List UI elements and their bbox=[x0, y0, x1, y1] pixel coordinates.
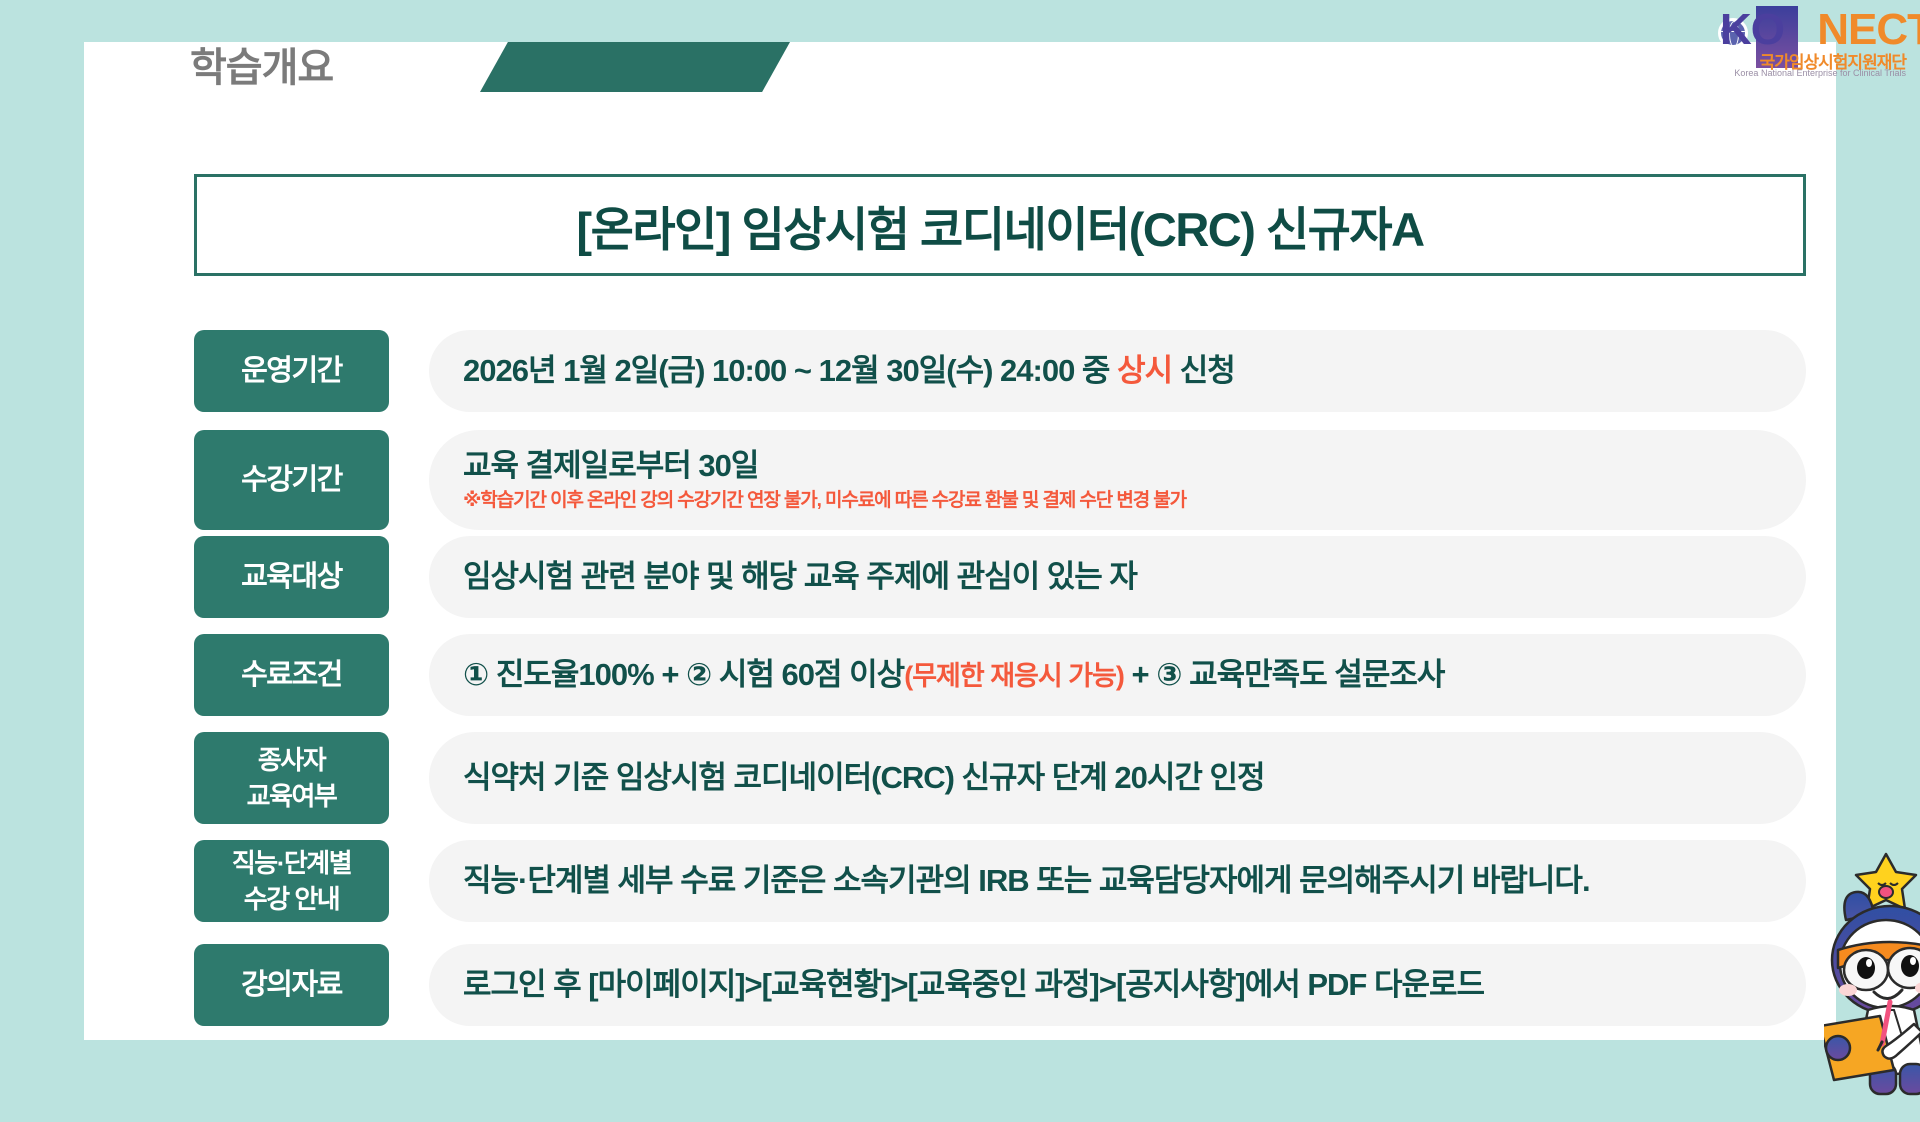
row-label: 운영기간 bbox=[194, 330, 389, 412]
row-content: 로그인 후 [마이페이지]>[교육현황]>[교육중인 과정]>[공지사항]에서 … bbox=[429, 944, 1806, 1026]
logo-ko-text: KO bbox=[1720, 5, 1784, 54]
content-card: 학습개요 [온라인] 임상시험 코디네이터(CRC) 신규자A 운영기간2026… bbox=[84, 42, 1836, 1040]
info-row: 강의자료로그인 후 [마이페이지]>[교육현황]>[교육중인 과정]>[공지사항… bbox=[194, 944, 1806, 1026]
row-label-line: 종사자 bbox=[258, 742, 325, 778]
content-text-highlight: 상시 bbox=[1117, 353, 1172, 388]
row-content-text: ① 진도율100% + ② 시험 60점 이상(무제한 재응시 가능) + ③ … bbox=[463, 655, 1772, 696]
row-label-line: 수료조건 bbox=[241, 657, 342, 693]
row-label: 수료조건 bbox=[194, 634, 389, 716]
course-title: [온라인] 임상시험 코디네이터(CRC) 신규자A bbox=[576, 191, 1423, 260]
row-label: 강의자료 bbox=[194, 944, 389, 1026]
info-row: 운영기간2026년 1월 2일(금) 10:00 ~ 12월 30일(수) 24… bbox=[194, 330, 1806, 412]
row-content-text: 교육 결제일로부터 30일 bbox=[463, 446, 1772, 486]
content-text-pre: 2026년 1월 2일(금) 10:00 ~ 12월 30일(수) 24:00 … bbox=[463, 353, 1117, 388]
logo-wordmark: KOONECT bbox=[1720, 8, 1920, 52]
row-content: 임상시험 관련 분야 및 해당 교육 주제에 관심이 있는 자 bbox=[429, 536, 1806, 618]
row-content: 직능·단계별 세부 수료 기준은 소속기관의 IRB 또는 교육담당자에게 문의… bbox=[429, 840, 1806, 922]
row-content: ① 진도율100% + ② 시험 60점 이상(무제한 재응시 가능) + ③ … bbox=[429, 634, 1806, 716]
row-content-note: ※학습기간 이후 온라인 강의 수강기간 연장 불가, 미수료에 따른 수강료 … bbox=[463, 488, 1772, 514]
content-text-pre: 로그인 후 [마이페이지]>[교육현황]>[교육중인 과정]>[공지사항]에서 … bbox=[463, 967, 1484, 1002]
row-content: 교육 결제일로부터 30일※학습기간 이후 온라인 강의 수강기간 연장 불가,… bbox=[429, 430, 1806, 530]
content-text-post: + ③ 교육만족도 설문조사 bbox=[1124, 657, 1444, 692]
info-row: 교육대상임상시험 관련 분야 및 해당 교육 주제에 관심이 있는 자 bbox=[194, 536, 1806, 618]
row-content: 식약처 기준 임상시험 코디네이터(CRC) 신규자 단계 20시간 인정 bbox=[429, 732, 1806, 824]
header-band: 학습개요 bbox=[84, 42, 1836, 94]
logo-nect-text: NECT bbox=[1817, 5, 1920, 54]
row-content-text: 로그인 후 [마이페이지]>[교육현황]>[교육중인 과정]>[공지사항]에서 … bbox=[463, 965, 1772, 1005]
content-text-pre: 교육 결제일로부터 30일 bbox=[463, 448, 758, 483]
content-text-pre: ① 진도율100% + ② 시험 60점 이상 bbox=[463, 657, 904, 692]
row-content-text: 2026년 1월 2일(금) 10:00 ~ 12월 30일(수) 24:00 … bbox=[463, 351, 1772, 391]
info-row: 수강기간교육 결제일로부터 30일※학습기간 이후 온라인 강의 수강기간 연장… bbox=[194, 430, 1806, 530]
content-text-pre: 직능·단계별 세부 수료 기준은 소속기관의 IRB 또는 교육담당자에게 문의… bbox=[463, 863, 1590, 898]
info-row: 직능·단계별수강 안내직능·단계별 세부 수료 기준은 소속기관의 IRB 또는… bbox=[194, 840, 1806, 922]
page-title: 학습개요 bbox=[190, 44, 333, 92]
row-label-line: 수강기간 bbox=[241, 462, 342, 498]
konect-logo: KOONECT 국가임상시험지원재단 Korea National Enterp… bbox=[1712, 6, 1908, 80]
row-label: 수강기간 bbox=[194, 430, 389, 530]
info-row: 종사자교육여부식약처 기준 임상시험 코디네이터(CRC) 신규자 단계 20시… bbox=[194, 732, 1806, 824]
row-label-line: 직능·단계별 bbox=[232, 845, 351, 881]
konect-mascot-illustration bbox=[1824, 842, 1920, 1122]
header-ribbon-shape bbox=[480, 42, 790, 92]
course-title-box: [온라인] 임상시험 코디네이터(CRC) 신규자A bbox=[194, 174, 1806, 276]
content-text-highlight: (무제한 재응시 가능) bbox=[904, 661, 1124, 691]
content-text-post: 신청 bbox=[1172, 353, 1235, 388]
row-label-line: 수강 안내 bbox=[244, 881, 339, 917]
row-label-line: 운영기간 bbox=[241, 353, 342, 389]
row-content-text: 임상시험 관련 분야 및 해당 교육 주제에 관심이 있는 자 bbox=[463, 557, 1772, 597]
row-content-text: 식약처 기준 임상시험 코디네이터(CRC) 신규자 단계 20시간 인정 bbox=[463, 758, 1772, 798]
row-label-line: 교육여부 bbox=[247, 778, 337, 814]
row-label: 종사자교육여부 bbox=[194, 732, 389, 824]
info-row: 수료조건① 진도율100% + ② 시험 60점 이상(무제한 재응시 가능) … bbox=[194, 634, 1806, 716]
content-text-pre: 임상시험 관련 분야 및 해당 교육 주제에 관심이 있는 자 bbox=[463, 559, 1137, 594]
row-content: 2026년 1월 2일(금) 10:00 ~ 12월 30일(수) 24:00 … bbox=[429, 330, 1806, 412]
logo-english-name: Korea National Enterprise for Clinical T… bbox=[1734, 68, 1906, 78]
row-label-line: 강의자료 bbox=[241, 967, 342, 1003]
row-label: 교육대상 bbox=[194, 536, 389, 618]
row-label: 직능·단계별수강 안내 bbox=[194, 840, 389, 922]
row-content-text: 직능·단계별 세부 수료 기준은 소속기관의 IRB 또는 교육담당자에게 문의… bbox=[463, 861, 1772, 901]
content-text-pre: 식약처 기준 임상시험 코디네이터(CRC) 신규자 단계 20시간 인정 bbox=[463, 760, 1265, 795]
row-label-line: 교육대상 bbox=[241, 559, 342, 595]
